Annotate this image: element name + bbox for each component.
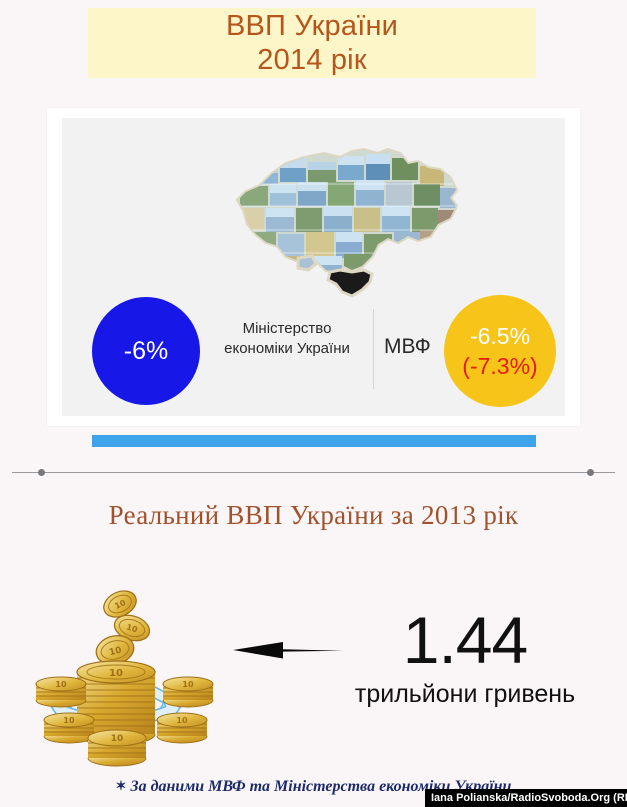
accent-bar bbox=[92, 435, 536, 447]
page-title-line2: 2014 рік bbox=[257, 43, 366, 77]
section-title: Реальний ВВП України за 2013 рік bbox=[0, 500, 627, 531]
svg-text:10: 10 bbox=[111, 734, 124, 744]
svg-text:10: 10 bbox=[55, 680, 67, 689]
page-title-line1: ВВП України bbox=[226, 9, 398, 43]
footnote-star-icon: ✶ bbox=[116, 778, 127, 793]
forecast-value-imf-revised: (-7.3%) bbox=[462, 351, 537, 381]
svg-text:10: 10 bbox=[182, 680, 194, 689]
forecast-value-ministry: -6% bbox=[124, 337, 168, 366]
divider-dot-right bbox=[587, 469, 594, 476]
photo-credit: Iana Polianska/RadioSvoboda.Org (RFE/RL) bbox=[425, 789, 627, 807]
forecast-label-imf: МВФ bbox=[384, 335, 444, 359]
forecast-label-ministry: Міністерство економіки України bbox=[212, 319, 362, 359]
forecast-card-inner-panel: -6% Міністерство економіки України МВФ -… bbox=[62, 118, 565, 416]
svg-text:10: 10 bbox=[176, 716, 188, 725]
svg-text:10: 10 bbox=[63, 716, 75, 725]
svg-text:10: 10 bbox=[109, 668, 123, 679]
forecast-value-imf: -6.5% bbox=[470, 321, 530, 351]
left-arrow-icon bbox=[225, 630, 345, 670]
title-banner: ВВП України 2014 рік bbox=[88, 8, 536, 78]
gold-coin-stacks-icon: 10 10 10 bbox=[20, 580, 230, 775]
ukraine-map-icon bbox=[212, 140, 477, 300]
forecast-circle-imf: -6.5% (-7.3%) bbox=[444, 295, 556, 407]
gdp-figure-block: 1.44 трильйони гривень bbox=[330, 605, 600, 711]
infographic-page: ВВП України 2014 рік bbox=[0, 0, 627, 807]
gdp-value: 1.44 bbox=[330, 605, 600, 675]
divider-dot-left bbox=[38, 469, 45, 476]
forecast-circle-ministry: -6% bbox=[92, 297, 200, 405]
gdp-unit: трильйони гривень bbox=[330, 677, 600, 711]
forecast-card: -6% Міністерство економіки України МВФ -… bbox=[47, 108, 580, 426]
section-divider bbox=[12, 472, 615, 473]
forecast-row: -6% Міністерство економіки України МВФ -… bbox=[62, 293, 565, 413]
forecast-divider bbox=[373, 309, 374, 389]
